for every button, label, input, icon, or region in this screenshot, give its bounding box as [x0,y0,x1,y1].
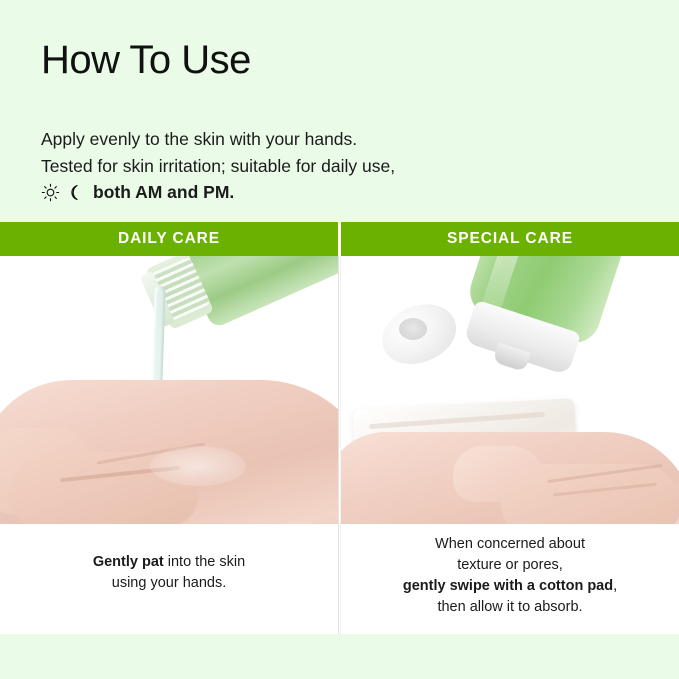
how-to-use-header: How To Use Apply evenly to the skin with… [0,0,679,222]
intro-line-2: Tested for skin irritation; suitable for… [41,153,679,180]
palm-highlight [150,446,246,486]
ampm-line: both AM and PM. [41,179,679,206]
caption-line: using your hands. [0,573,338,594]
caption-rest: then allow it to absorb. [437,599,582,615]
caption-line: texture or pores, [341,555,679,576]
caption-daily-care: Gently pat into the skin using your hand… [0,552,338,594]
caption-rest: using your hands. [112,575,226,591]
caption-bold: Gently pat [93,554,164,570]
caption-rest: into the skin [164,554,245,570]
panel-special-care: Anua When concerned about texture or por… [341,256,679,634]
intro-line-1: Apply evenly to the skin with your hands… [41,126,679,153]
caption-bold: gently swipe with a cotton pad [403,578,613,594]
banner-special-care: SPECIAL CARE [341,222,679,256]
product-bottle-right: Anua [451,256,669,398]
caption-line: Gently pat into the skin [0,552,338,573]
photo-special-care: Anua [341,256,679,524]
caption-line: then allow it to absorb. [341,597,679,618]
sun-icon [41,183,60,202]
ampm-text: both AM and PM. [93,179,234,206]
moon-icon [64,183,83,202]
panel-daily-care: Anua 3+ Gently pat into the skin using y… [0,256,338,634]
caption-rest: texture or pores, [457,557,563,573]
caption-line: When concerned about [341,534,679,555]
page-title: How To Use [41,38,679,82]
caption-special-care: When concerned about texture or pores, g… [341,534,679,618]
caption-rest: , [613,578,617,594]
flip-cap-inner [399,318,427,340]
care-panels: Anua 3+ Gently pat into the skin using y… [0,256,679,634]
banner-label-daily: DAILY CARE [118,230,220,248]
intro-paragraph: Apply evenly to the skin with your hands… [41,126,679,206]
care-banner: DAILY CARE SPECIAL CARE [0,222,679,256]
banner-label-special: SPECIAL CARE [447,230,573,248]
banner-daily-care: DAILY CARE [0,222,338,256]
photo-daily-care: Anua 3+ [0,256,338,524]
footer-strip [0,634,679,679]
caption-rest: When concerned about [435,536,585,552]
caption-line: gently swipe with a cotton pad, [341,576,679,597]
